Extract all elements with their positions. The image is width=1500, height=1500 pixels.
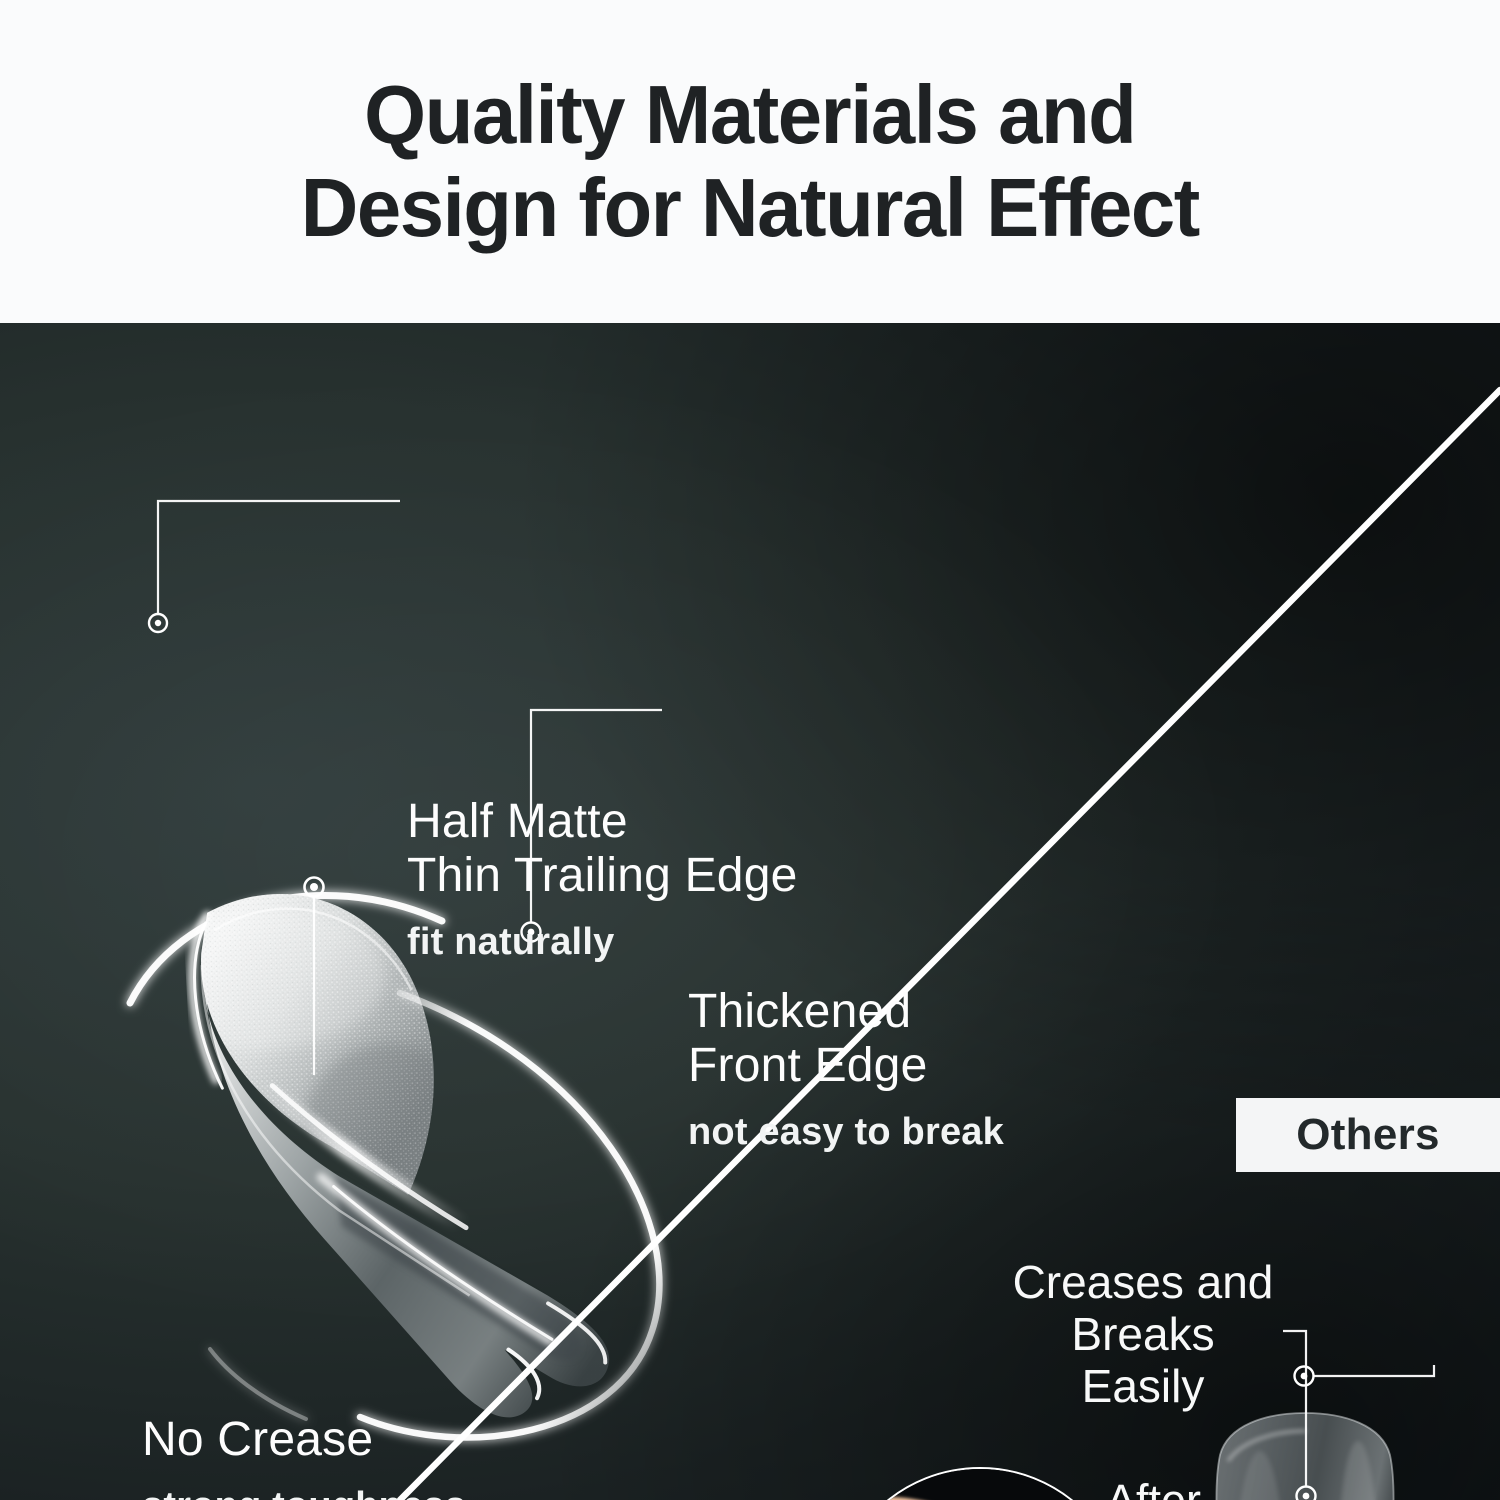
callout-half-matte-line-2: Thin Trailing Edge	[407, 849, 797, 903]
nail-gloss-section	[203, 937, 612, 1432]
comparison-badge-others-label: Others	[1296, 1110, 1440, 1160]
comparison-stage: Half Matte Thin Trailing Edge fit natura…	[0, 323, 1500, 1500]
callout-no-crease: No Crease strong toughness	[142, 1413, 466, 1500]
page-title-line-2: Design for Natural Effect	[301, 162, 1199, 255]
infographic-page: Quality Materials and Design for Natural…	[0, 0, 1500, 1500]
nail-matte-section	[197, 886, 440, 1205]
callout-creases-line-1: Creases and	[1008, 1257, 1278, 1309]
callout-after-bend-line-1: After	[1025, 1475, 1201, 1500]
light-swoosh-tail	[210, 1349, 306, 1419]
comparison-badge-others: Others	[1236, 1098, 1500, 1172]
light-swoosh-front	[360, 993, 659, 1438]
callout-thickened-line-2: Front Edge	[688, 1039, 1004, 1093]
light-swoosh-back	[130, 895, 442, 1003]
callout-half-matte-sub: fit naturally	[407, 921, 797, 964]
header-band: Quality Materials and Design for Natural…	[0, 0, 1500, 323]
callout-thickened-line-1: Thickened	[688, 985, 1004, 1039]
callout-thickened-front-edge: Thickened Front Edge not easy to break	[688, 985, 1004, 1154]
leader-abs	[1295, 1365, 1435, 1386]
leader-half-matte	[149, 501, 400, 632]
callout-after-bend: After Bend	[1025, 1475, 1201, 1500]
callout-no-crease-sub: strong toughness	[142, 1485, 466, 1500]
page-title-line-1: Quality Materials and	[301, 69, 1199, 162]
callout-half-matte-line-1: Half Matte	[407, 795, 797, 849]
callout-creases-line-2: Breaks Easily	[1008, 1309, 1278, 1413]
abs-nail-body	[1216, 1413, 1393, 1500]
leader-creases	[1283, 1331, 1316, 1500]
callout-creases-breaks: Creases and Breaks Easily	[1008, 1257, 1278, 1413]
callout-no-crease-line-1: No Crease	[142, 1413, 466, 1467]
page-title: Quality Materials and Design for Natural…	[243, 69, 1256, 255]
callout-half-matte: Half Matte Thin Trailing Edge fit natura…	[407, 795, 797, 964]
callout-thickened-sub: not easy to break	[688, 1111, 1004, 1154]
abs-nail-illustration	[1198, 1401, 1413, 1500]
leader-no-crease	[305, 878, 324, 1076]
